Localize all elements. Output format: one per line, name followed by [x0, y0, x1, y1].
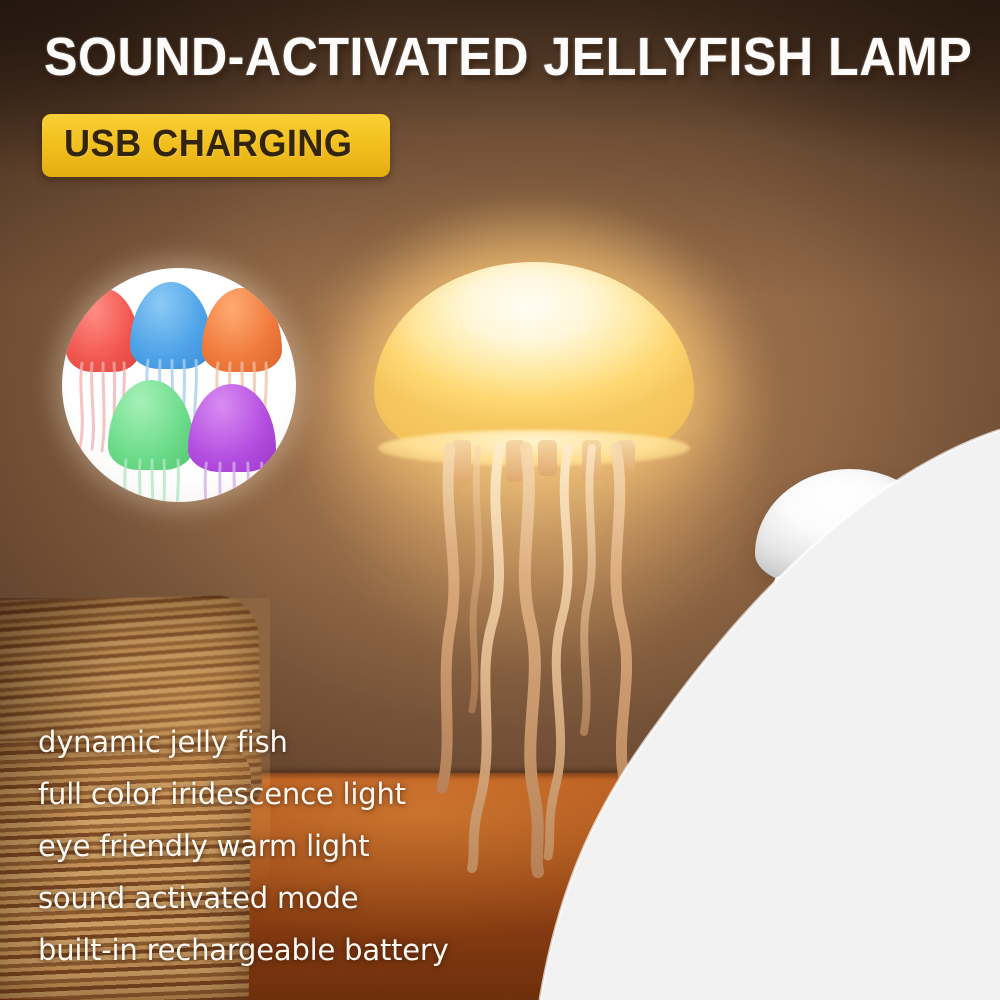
product-tentacles	[735, 573, 1000, 903]
white-jellyfish-lamp-product	[735, 455, 1000, 1000]
color-options-circle	[62, 268, 296, 502]
mini-dome	[108, 380, 194, 470]
product-ad-image: SOUND-ACTIVATED JELLYFISH LAMP USB CHARG…	[0, 0, 1000, 1000]
usb-charging-badge-label: USB CHARGING	[64, 123, 353, 166]
feature-item: eye friendly warm light	[38, 820, 558, 872]
mini-jellyfish-purple	[188, 384, 276, 502]
feature-item: built-in rechargeable battery	[38, 924, 558, 976]
feature-item: full color iridescence light	[38, 768, 558, 820]
mini-tentacles	[188, 463, 276, 502]
usb-charging-badge: USB CHARGING	[42, 114, 390, 177]
mini-dome	[66, 288, 140, 372]
page-title: SOUND-ACTIVATED JELLYFISH LAMP	[44, 26, 972, 88]
mini-dome	[130, 282, 212, 369]
feature-list: dynamic jelly fish full color iridescenc…	[38, 716, 558, 976]
product-acrylic-base	[771, 926, 944, 976]
mini-dome	[188, 384, 276, 472]
mini-jellyfish-green	[108, 380, 194, 502]
product-stem	[843, 755, 854, 945]
mini-tentacles	[108, 460, 194, 502]
feature-item: sound activated mode	[38, 872, 558, 924]
feature-item: dynamic jelly fish	[38, 716, 558, 768]
mini-dome	[202, 288, 282, 372]
